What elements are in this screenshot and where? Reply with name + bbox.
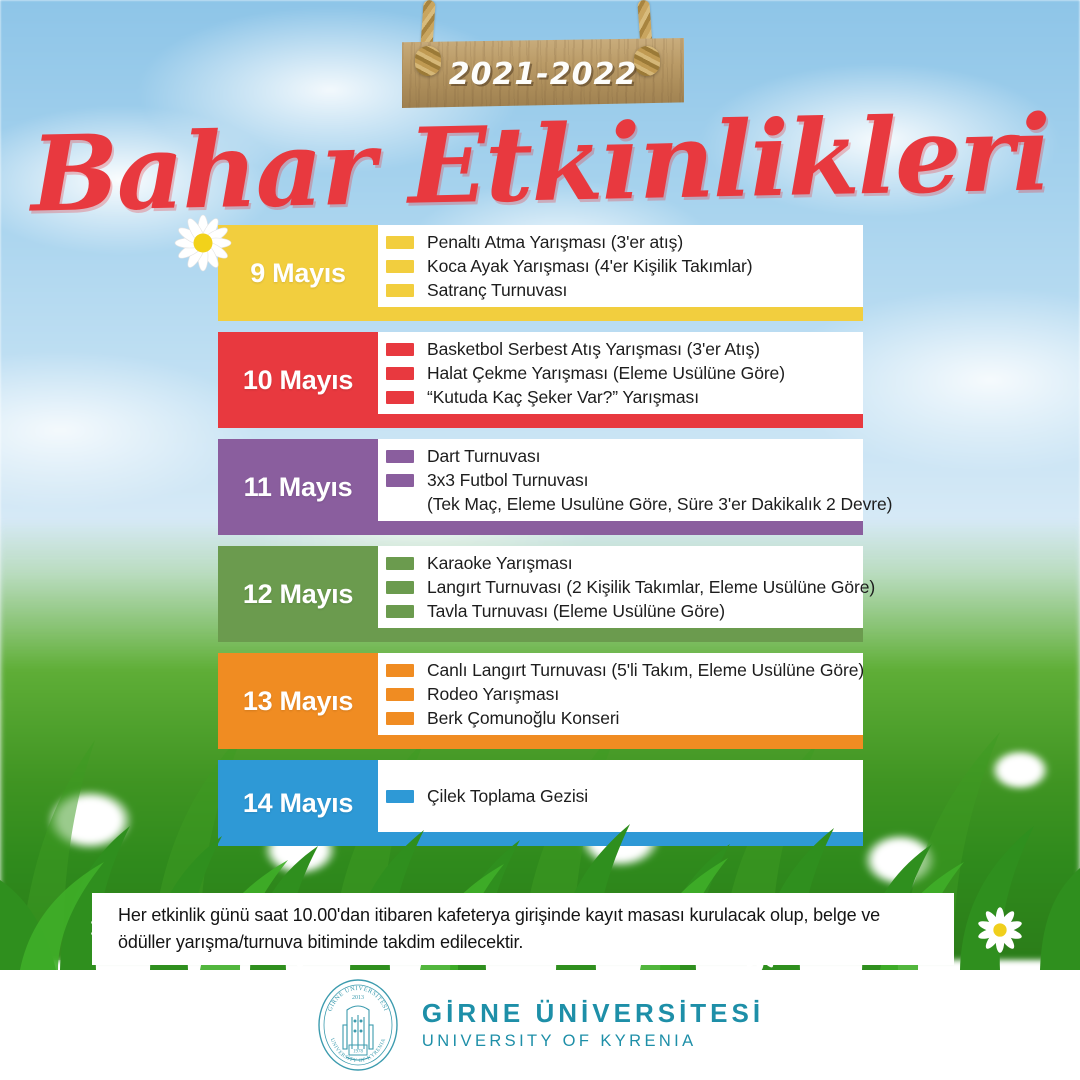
page-title: Bahar Etkinlikleri — [0, 93, 1080, 236]
bullet-tick-icon — [386, 664, 414, 677]
logo-year: 2013 — [352, 995, 364, 1001]
day-events: Basketbol Serbest Atış Yarışması (3'er A… — [386, 332, 856, 414]
event-label: (Tek Maç, Eleme Usulüne Göre, Süre 3'er … — [427, 494, 892, 515]
bullet-tick-icon — [386, 343, 414, 356]
bullet-tick-icon — [386, 688, 414, 701]
event-item: Koca Ayak Yarışması (4'er Kişilik Takıml… — [386, 255, 856, 277]
bullet-tick-icon — [386, 367, 414, 380]
event-label: Langırt Turnuvası (2 Kişilik Takımlar, E… — [427, 577, 875, 598]
event-label: “Kutuda Kaç Şeker Var?” Yarışması — [427, 387, 699, 408]
schedule-day-row[interactable]: 10 Mayıs Basketbol Serbest Atış Yarışmas… — [218, 332, 863, 428]
day-label: 9 Mayıs — [218, 225, 378, 321]
schedule-list: 9 Mayıs Penaltı Atma Yarışması (3'er atı… — [0, 225, 1080, 857]
day-label: 12 Mayıs — [218, 546, 378, 642]
day-events: Dart Turnuvası 3x3 Futbol Turnuvası (Tek… — [386, 439, 856, 521]
bullet-tick-icon — [386, 391, 414, 404]
event-label: Rodeo Yarışması — [427, 684, 559, 705]
event-item: Rodeo Yarışması — [386, 683, 856, 705]
day-events: Karaoke Yarışması Langırt Turnuvası (2 K… — [386, 546, 856, 628]
academic-year-label: 2021-2022 — [402, 52, 684, 96]
bullet-tick-icon — [386, 605, 414, 618]
logo-badge-year: 1978 — [353, 1050, 364, 1055]
poster-canvas: 2021-2022 Bahar Etkinlikleri — [0, 0, 1080, 1080]
event-item: Halat Çekme Yarışması (Eleme Usülüne Gör… — [386, 362, 856, 384]
bullet-tick-icon — [386, 790, 414, 803]
bullet-tick-icon — [386, 557, 414, 570]
bullet-tick-icon — [386, 450, 414, 463]
note-text: Her etkinlik günü saat 10.00'dan itibare… — [118, 902, 928, 956]
bullet-tick-icon — [386, 581, 414, 594]
event-item: Berk Çomunoğlu Konseri — [386, 707, 856, 729]
event-item: Karaoke Yarışması — [386, 552, 856, 574]
university-name-block: GİRNE ÜNİVERSİTESİ UNIVERSITY OF KYRENIA — [422, 998, 764, 1051]
day-events: Çilek Toplama Gezisi — [386, 760, 856, 832]
schedule-day-row[interactable]: 14 Mayıs Çilek Toplama Gezisi — [218, 760, 863, 846]
bullet-tick-icon — [386, 474, 414, 487]
bullet-tick-icon — [386, 284, 414, 297]
schedule-day-row[interactable]: 12 Mayıs Karaoke Yarışması Langırt Turnu… — [218, 546, 863, 642]
event-label: Satranç Turnuvası — [427, 280, 567, 301]
footer: GİRNE ÜNİVERSİTESİ UNIVERSITY OF KYRENIA… — [0, 970, 1080, 1080]
event-label: Halat Çekme Yarışması (Eleme Usülüne Gör… — [427, 363, 785, 384]
schedule-day-row[interactable]: 13 Mayıs Canlı Langırt Turnuvası (5'li T… — [218, 653, 863, 749]
university-logo-icon: GİRNE ÜNİVERSİTESİ UNIVERSITY OF KYRENIA… — [316, 977, 400, 1073]
note-box: Her etkinlik günü saat 10.00'dan itibare… — [92, 893, 954, 965]
day-label: 14 Mayıs — [218, 760, 378, 846]
day-events: Penaltı Atma Yarışması (3'er atış) Koca … — [386, 225, 856, 307]
schedule-day-row[interactable]: 9 Mayıs Penaltı Atma Yarışması (3'er atı… — [218, 225, 863, 321]
bullet-tick-icon — [386, 260, 414, 273]
event-item: Basketbol Serbest Atış Yarışması (3'er A… — [386, 338, 856, 360]
event-item-continuation: (Tek Maç, Eleme Usulüne Göre, Süre 3'er … — [386, 493, 856, 515]
university-name-en: UNIVERSITY OF KYRENIA — [422, 1032, 764, 1051]
event-item: Canlı Langırt Turnuvası (5'li Takım, Ele… — [386, 659, 856, 681]
event-label: Tavla Turnuvası (Eleme Usülüne Göre) — [427, 601, 725, 622]
day-label: 10 Mayıs — [218, 332, 378, 428]
event-label: Berk Çomunoğlu Konseri — [427, 708, 619, 729]
event-label: Penaltı Atma Yarışması (3'er atış) — [427, 232, 683, 253]
event-label: Basketbol Serbest Atış Yarışması (3'er A… — [427, 339, 760, 360]
event-item: Satranç Turnuvası — [386, 279, 856, 301]
event-label: Çilek Toplama Gezisi — [427, 786, 588, 807]
event-item: Dart Turnuvası — [386, 445, 856, 467]
day-events: Canlı Langırt Turnuvası (5'li Takım, Ele… — [386, 653, 856, 735]
event-item: Langırt Turnuvası (2 Kişilik Takımlar, E… — [386, 576, 856, 598]
day-label: 13 Mayıs — [218, 653, 378, 749]
event-label: 3x3 Futbol Turnuvası — [427, 470, 588, 491]
event-label: Dart Turnuvası — [427, 446, 540, 467]
bullet-tick-icon — [386, 712, 414, 725]
event-label: Karaoke Yarışması — [427, 553, 573, 574]
event-item: Penaltı Atma Yarışması (3'er atış) — [386, 231, 856, 253]
daisy-flower-icon — [172, 212, 234, 274]
event-item: 3x3 Futbol Turnuvası — [386, 469, 856, 491]
university-name-tr: GİRNE ÜNİVERSİTESİ — [422, 998, 764, 1029]
event-item: “Kutuda Kaç Şeker Var?” Yarışması — [386, 386, 856, 408]
event-item: Tavla Turnuvası (Eleme Usülüne Göre) — [386, 600, 856, 622]
day-label: 11 Mayıs — [218, 439, 378, 535]
event-label: Koca Ayak Yarışması (4'er Kişilik Takıml… — [427, 256, 753, 277]
bullet-tick-icon — [386, 236, 414, 249]
schedule-day-row[interactable]: 11 Mayıs Dart Turnuvası 3x3 Futbol Turnu… — [218, 439, 863, 535]
event-item: Çilek Toplama Gezisi — [386, 784, 856, 808]
event-label: Canlı Langırt Turnuvası (5'li Takım, Ele… — [427, 660, 864, 681]
